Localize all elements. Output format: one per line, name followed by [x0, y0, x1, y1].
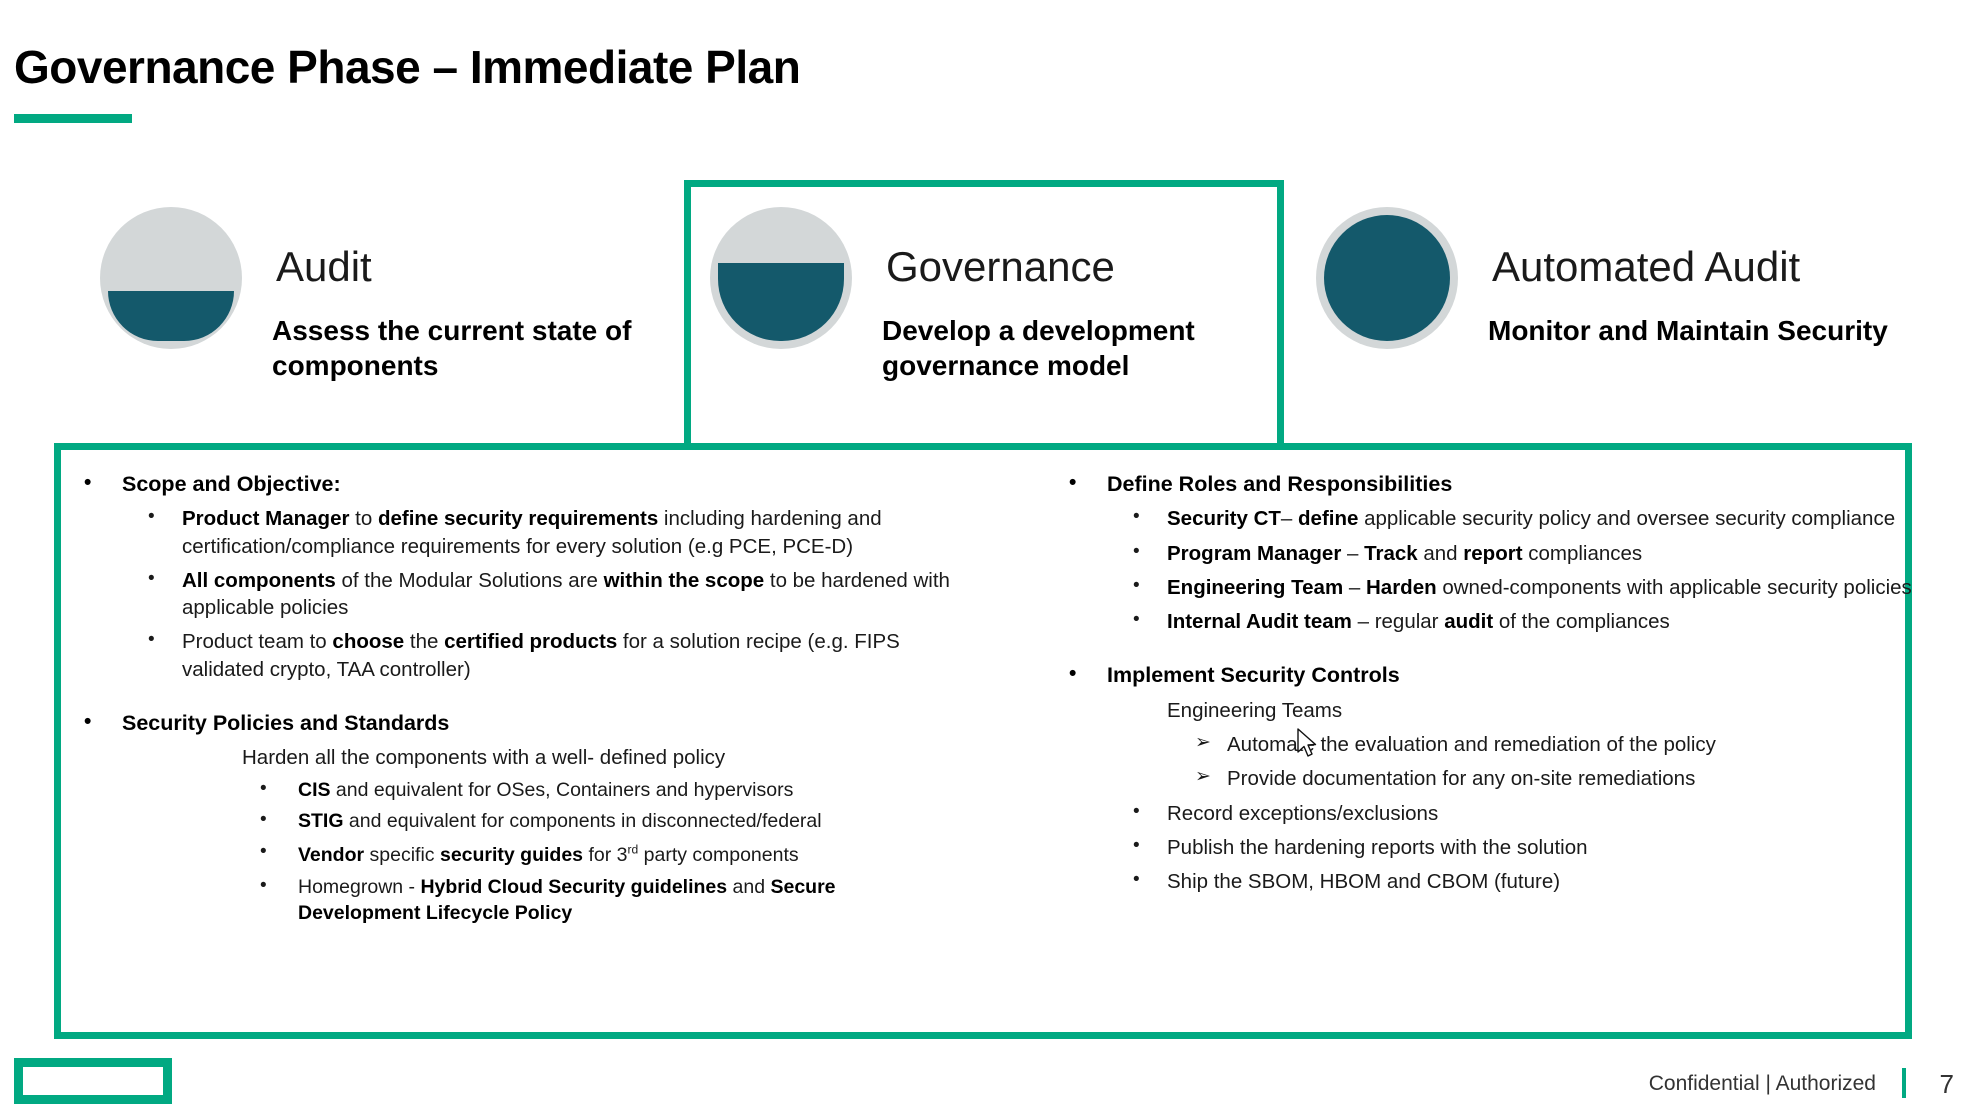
- governance-circle-icon: [710, 207, 852, 349]
- dot-bullet-icon: •: [260, 873, 267, 898]
- bullet-level-3: ➢Automate the evaluation and remediation…: [1055, 731, 1935, 758]
- dot-bullet-icon: •: [148, 566, 155, 591]
- dot-bullet-icon: •: [148, 504, 155, 529]
- dot-bullet-icon: •: [1133, 833, 1140, 858]
- bullet-text: Record exceptions/exclusions: [1167, 802, 1438, 825]
- bullet-level-4: •Homegrown - Hybrid Cloud Security guide…: [70, 875, 950, 927]
- bullet-text: Security Policies and Standards: [122, 711, 449, 735]
- bullet-text: Program Manager – Track and report compl…: [1167, 542, 1642, 565]
- footer-divider: [1902, 1068, 1906, 1098]
- bullet-text: Harden all the components with a well- d…: [242, 746, 725, 769]
- pillar-automated-audit-title: Automated Audit: [1492, 243, 1800, 291]
- bullet-text: Homegrown - Hybrid Cloud Security guidel…: [298, 876, 836, 924]
- bullet-text: Product Manager to define security requi…: [182, 507, 882, 557]
- bullet-level-2: •Product Manager to define security requ…: [70, 505, 950, 560]
- pillar-audit-title: Audit: [276, 243, 372, 291]
- bullet-level-2: •Program Manager – Track and report comp…: [1055, 540, 1935, 567]
- bullet-level-3: Harden all the components with a well- d…: [70, 744, 950, 771]
- arrow-bullet-icon: ➢: [1195, 730, 1211, 755]
- pillar-governance-title: Governance: [886, 243, 1115, 291]
- bullet-level-2: Engineering Teams: [1055, 697, 1935, 724]
- bullet-level-4: •Vendor specific security guides for 3rd…: [70, 841, 950, 868]
- bullet-level-1: •Security Policies and Standards: [70, 709, 950, 737]
- page-title: Governance Phase – Immediate Plan: [14, 40, 800, 94]
- slide: Governance Phase – Immediate Plan Audit …: [0, 0, 1976, 1107]
- arrow-bullet-icon: ➢: [1195, 764, 1211, 789]
- bullet-text: Implement Security Controls: [1107, 663, 1400, 687]
- bullet-level-2: •Record exceptions/exclusions: [1055, 800, 1935, 827]
- bullet-text: STIG and equivalent for components in di…: [298, 810, 822, 832]
- automated-audit-circle-icon: [1316, 207, 1458, 349]
- page-number: 7: [1940, 1069, 1954, 1100]
- dot-bullet-icon: •: [1069, 660, 1076, 688]
- dot-bullet-icon: •: [1133, 607, 1140, 632]
- bullet-level-1: •Scope and Objective:: [70, 470, 950, 498]
- pillar-governance-subtitle: Develop a development governance model: [882, 313, 1282, 384]
- bullet-text: Provide documentation for any on-site re…: [1227, 767, 1695, 790]
- bullet-text: Vendor specific security guides for 3rd …: [298, 844, 799, 866]
- bullet-text: All components of the Modular Solutions …: [182, 569, 950, 619]
- dot-bullet-icon: •: [84, 469, 91, 497]
- dot-bullet-icon: •: [1133, 504, 1140, 529]
- dot-bullet-icon: •: [260, 839, 267, 864]
- bullet-text: Scope and Objective:: [122, 472, 341, 496]
- audit-circle-icon: [100, 207, 242, 349]
- bullet-level-2: •Internal Audit team – regular audit of …: [1055, 608, 1935, 635]
- bullet-text: Internal Audit team – regular audit of t…: [1167, 610, 1670, 633]
- confidentiality-label: Confidential | Authorized: [1649, 1072, 1876, 1096]
- dot-bullet-icon: •: [260, 776, 267, 801]
- dot-bullet-icon: •: [1133, 867, 1140, 892]
- bullet-text: Engineering Team – Harden owned-componen…: [1167, 576, 1912, 599]
- bullet-text: Publish the hardening reports with the s…: [1167, 836, 1588, 859]
- title-underline-rule: [14, 114, 132, 123]
- dot-bullet-icon: •: [1133, 799, 1140, 824]
- right-content-column: •Define Roles and Responsibilities•Secur…: [1055, 470, 1935, 895]
- bullet-level-1: •Define Roles and Responsibilities: [1055, 470, 1935, 498]
- mouse-cursor-icon: [1296, 728, 1318, 760]
- dot-bullet-icon: •: [148, 627, 155, 652]
- bullet-level-4: •CIS and equivalent for OSes, Containers…: [70, 778, 950, 804]
- pillar-audit-subtitle: Assess the current state of components: [272, 313, 692, 384]
- dot-bullet-icon: •: [84, 708, 91, 736]
- bullet-level-2: •Ship the SBOM, HBOM and CBOM (future): [1055, 868, 1935, 895]
- bullet-text: Engineering Teams: [1167, 699, 1342, 722]
- bullet-level-3: ➢Provide documentation for any on-site r…: [1055, 765, 1935, 792]
- bullet-level-4: •STIG and equivalent for components in d…: [70, 809, 950, 835]
- pillar-automated-audit-subtitle: Monitor and Maintain Security: [1488, 313, 1888, 348]
- bullet-level-2: •Engineering Team – Harden owned-compone…: [1055, 574, 1935, 601]
- dot-bullet-icon: •: [1069, 469, 1076, 497]
- dot-bullet-icon: •: [260, 807, 267, 832]
- bullet-text: Ship the SBOM, HBOM and CBOM (future): [1167, 870, 1560, 893]
- bullet-text: CIS and equivalent for OSes, Containers …: [298, 779, 793, 801]
- bullet-text: Security CT– define applicable security …: [1167, 507, 1895, 530]
- hpe-logo-icon: [14, 1058, 172, 1104]
- pillars-row: Audit Assess the current state of compon…: [0, 195, 1976, 445]
- dot-bullet-icon: •: [1133, 573, 1140, 598]
- bullet-spacer: [70, 683, 950, 709]
- bullet-level-2: •All components of the Modular Solutions…: [70, 567, 950, 622]
- bullet-level-2: •Product team to choose the certified pr…: [70, 628, 950, 683]
- dot-bullet-icon: •: [1133, 539, 1140, 564]
- bullet-spacer: [1055, 635, 1935, 661]
- bullet-level-2: •Publish the hardening reports with the …: [1055, 834, 1935, 861]
- left-content-column: •Scope and Objective:•Product Manager to…: [70, 470, 950, 927]
- bullet-level-1: •Implement Security Controls: [1055, 661, 1935, 689]
- bullet-text: Define Roles and Responsibilities: [1107, 472, 1452, 496]
- bullet-level-2: •Security CT– define applicable security…: [1055, 505, 1935, 532]
- bullet-text: Product team to choose the certified pro…: [182, 630, 900, 680]
